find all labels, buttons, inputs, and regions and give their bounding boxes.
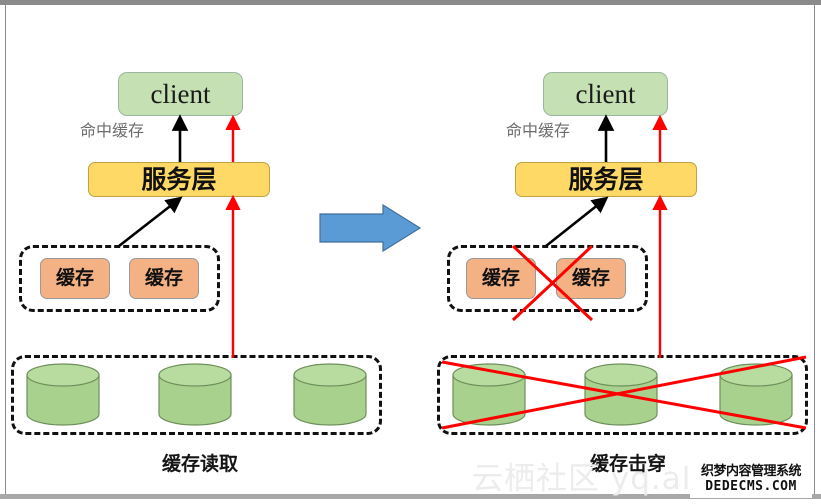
- watermark-badge: 织梦内容管理系统 DEDECMS.COM: [690, 460, 812, 498]
- left-db-label-2: DB: [158, 392, 233, 409]
- transition-right-arrow-icon: [320, 205, 420, 251]
- right-db-label-3: DB: [719, 392, 794, 409]
- left-client-box: client: [118, 72, 243, 116]
- left-service-box: 服务层: [88, 162, 270, 197]
- diagram-canvas: client 命中缓存 服务层 缓存 缓存 DB DB DB 缓存读取 clie…: [0, 0, 821, 504]
- left-db-label-1: DB: [27, 392, 102, 409]
- left-client-label: client: [151, 81, 211, 108]
- left-cache-box-2: 缓存: [129, 258, 199, 299]
- right-db-label-2: DB: [584, 392, 659, 409]
- right-cache-box-1: 缓存: [466, 258, 536, 299]
- frame-left-border: [5, 5, 6, 499]
- right-service-box: 服务层: [515, 162, 697, 197]
- left-cache-box-1: 缓存: [40, 258, 110, 299]
- left-arrow-cache-to-service: [119, 200, 178, 246]
- watermark-badge-cn: 织梦内容管理系统: [701, 465, 801, 478]
- right-arrow-cache-to-service: [546, 200, 604, 246]
- right-db-label-1: DB: [453, 392, 528, 409]
- right-service-label: 服务层: [568, 167, 643, 192]
- watermark-faint-text: 云栖社区 yq.ali: [472, 464, 701, 495]
- frame-right-border: [814, 5, 815, 499]
- watermark-badge-en: DEDECMS.COM: [705, 480, 797, 493]
- frame-top-border: [0, 0, 821, 5]
- left-cache-label-2: 缓存: [145, 269, 183, 288]
- right-cache-label-1: 缓存: [482, 269, 520, 288]
- left-hit-cache-label: 命中缓存: [80, 124, 144, 140]
- right-client-label: client: [576, 81, 636, 108]
- left-db-label-3: DB: [293, 392, 368, 409]
- left-panel-caption: 缓存读取: [120, 455, 280, 474]
- left-service-label: 服务层: [141, 167, 216, 192]
- left-cache-label-1: 缓存: [56, 269, 94, 288]
- frame-bottom-filler: [0, 499, 821, 504]
- right-cache-box-2: 缓存: [556, 258, 626, 299]
- right-client-box: client: [543, 72, 668, 116]
- right-cache-label-2: 缓存: [572, 269, 610, 288]
- right-hit-cache-label: 命中缓存: [506, 124, 570, 140]
